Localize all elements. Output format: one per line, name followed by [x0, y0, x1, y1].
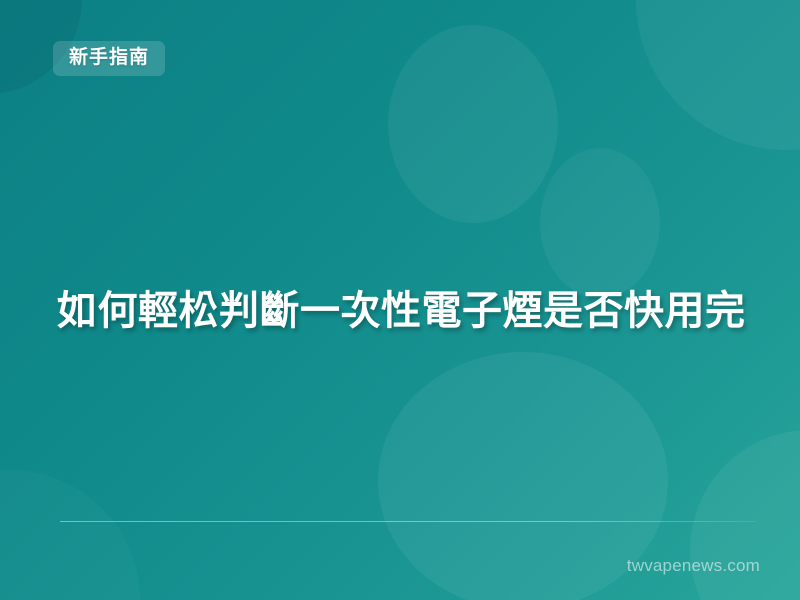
decorative-circle-bottom-center [378, 352, 668, 600]
decorative-circle-right-small [540, 148, 660, 298]
divider [60, 521, 756, 522]
decorative-circle-bottom-left [0, 470, 140, 600]
decorative-circle-top-right [636, 0, 800, 150]
page-title: 如何輕松判斷一次性電子煙是否快用完 [57, 288, 747, 335]
category-badge[interactable]: 新手指南 [53, 41, 165, 76]
article-banner: 新手指南 如何輕松判斷一次性電子煙是否快用完 twvapenews.com [0, 0, 800, 600]
site-watermark: twvapenews.com [627, 556, 760, 576]
decorative-circle-upper-middle [388, 25, 558, 223]
